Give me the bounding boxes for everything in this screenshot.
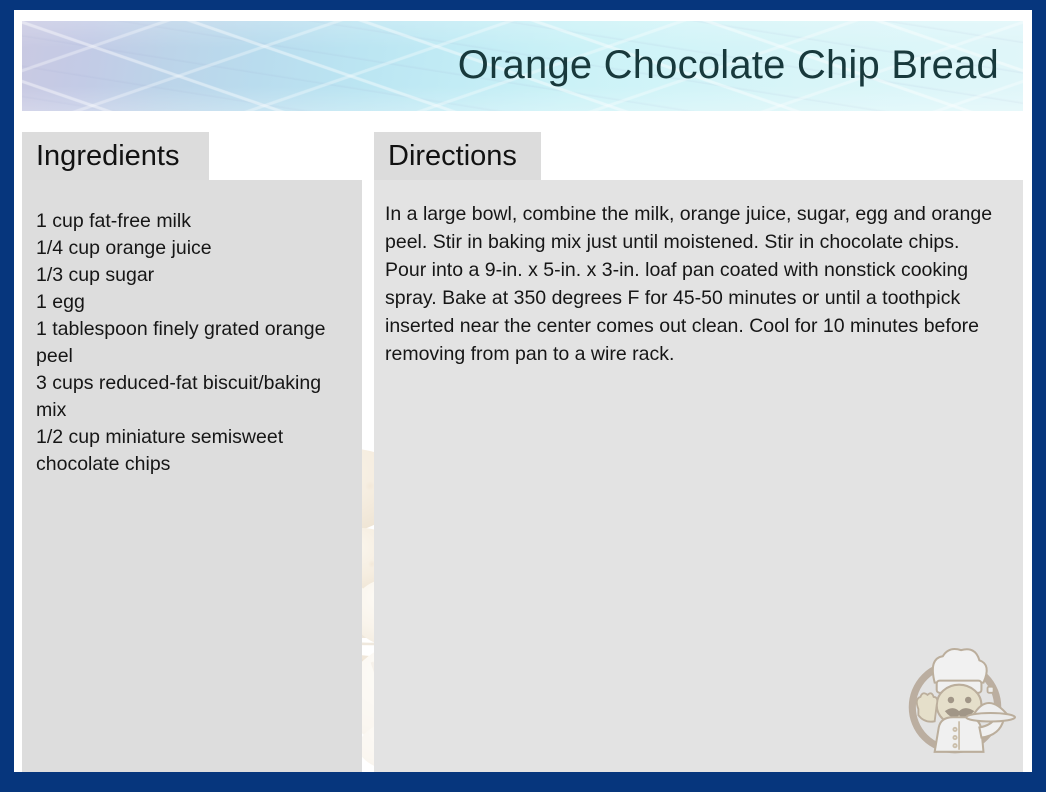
directions-text: In a large bowl, combine the milk, orang… [385, 200, 1005, 368]
slide-page: Orange Chocolate Chip Bread [14, 10, 1032, 772]
ingredients-panel: 1 cup fat-free milk 1/4 cup orange juice… [22, 180, 362, 772]
ingredients-heading: Ingredients [22, 132, 209, 180]
title-banner: Orange Chocolate Chip Bread [22, 21, 1023, 111]
page-title: Orange Chocolate Chip Bread [458, 45, 999, 85]
ingredients-list: 1 cup fat-free milk 1/4 cup orange juice… [36, 208, 348, 478]
directions-heading: Directions [374, 132, 541, 180]
directions-panel: In a large bowl, combine the milk, orang… [374, 180, 1023, 772]
recipe-slide: Orange Chocolate Chip Bread [0, 0, 1046, 792]
